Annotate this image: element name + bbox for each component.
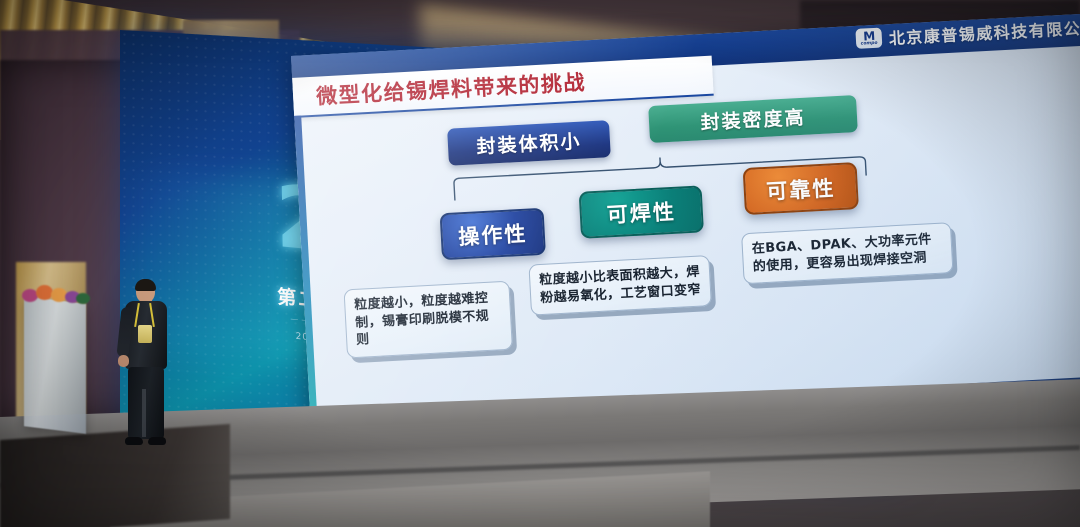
flower-arrangement — [20, 283, 94, 309]
compo-logo-icon: M compo — [855, 28, 882, 49]
presenter-leg-gap — [142, 389, 146, 437]
logo-subtext: compo — [861, 42, 878, 47]
presenter-shoe-right — [148, 437, 166, 445]
conference-stage-photo: 28 中国电子材料行业协会电子粘接材料分会 第二十八届年会 中国·三亚 2021… — [0, 0, 1080, 527]
description-solderability: 粒度越小比表面积越大，焊粉越易氧化，工艺窗口变窄 — [528, 255, 711, 316]
box-solderability: 可焊性 — [579, 185, 704, 238]
box-package-density: 封装密度高 — [648, 95, 858, 143]
box-reliability: 可靠性 — [743, 162, 859, 215]
box-package-volume: 封装体积小 — [447, 120, 611, 166]
presenter-shoe-left — [125, 437, 143, 445]
presenter-badge — [138, 325, 152, 343]
description-operability: 粒度越小，粒度越难控制，锡膏印刷脱模不规则 — [344, 281, 513, 358]
podium — [24, 296, 86, 434]
description-reliability: 在BGA、DPAK、大功率元件的使用，更容易出现焊接空洞 — [741, 222, 953, 284]
presenter — [118, 281, 174, 449]
presenter-hand — [118, 355, 129, 367]
box-operability: 操作性 — [440, 208, 546, 260]
projected-slide: M compo 北京康普锡威科技有限公司 微型化给锡焊料带来的挑战 封装体积小 … — [291, 13, 1080, 440]
presenter-hair — [135, 279, 156, 291]
stage-shadow-area — [0, 424, 230, 527]
presenter-legs — [128, 367, 164, 439]
